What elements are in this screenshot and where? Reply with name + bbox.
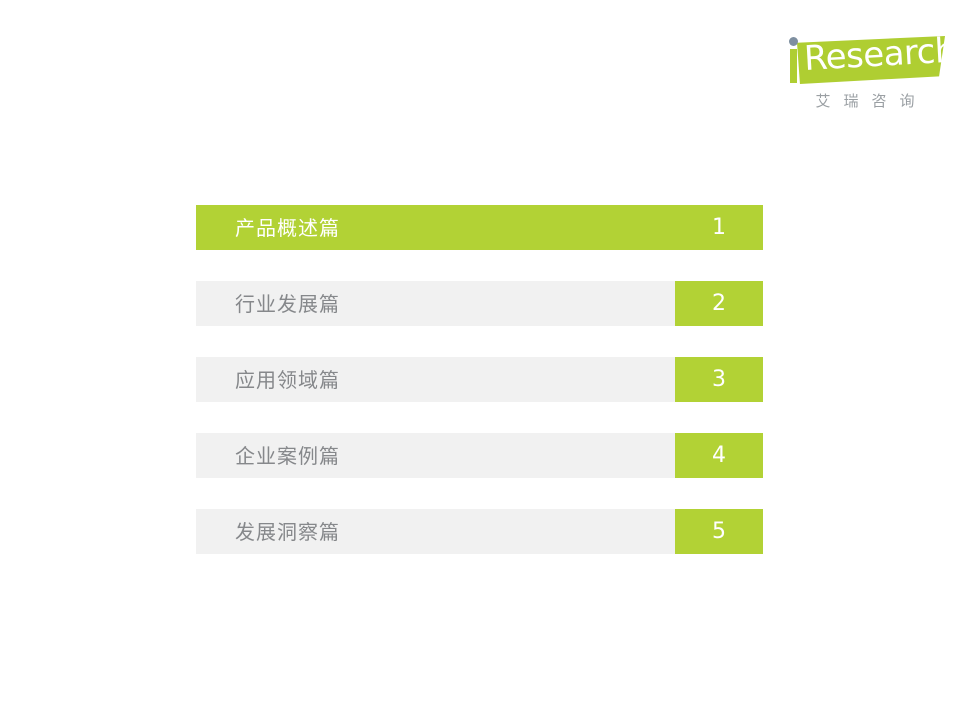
logo-i-dot-icon [789,37,798,46]
toc-item-label: 应用领域篇 [235,367,340,393]
toc-item-number: 2 [675,281,763,326]
toc-item-number: 3 [675,357,763,402]
toc-item-number: 1 [675,205,763,250]
toc-item-label: 产品概述篇 [235,215,340,241]
toc-item-number: 4 [675,433,763,478]
toc-item-2[interactable]: 行业发展篇 2 [196,281,763,326]
toc-item-5[interactable]: 发展洞察篇 5 [196,509,763,554]
toc-item-label: 行业发展篇 [235,291,340,317]
toc-item-3[interactable]: 应用领域篇 3 [196,357,763,402]
toc-item-label: 发展洞察篇 [235,519,340,545]
table-of-contents: 产品概述篇 1 行业发展篇 2 应用领域篇 3 企业案例篇 4 发展洞察篇 5 [196,205,763,554]
toc-item-4[interactable]: 企业案例篇 4 [196,433,763,478]
logo-i-stem-icon [790,49,797,83]
logo-wordmark: Research [803,31,957,79]
toc-item-1[interactable]: 产品概述篇 1 [196,205,763,250]
logo-mark: Research [781,30,947,90]
iresearch-logo: Research 艾瑞咨询 [781,30,947,122]
toc-item-number: 5 [675,509,763,554]
logo-subtitle: 艾瑞咨询 [785,92,945,112]
toc-item-label: 企业案例篇 [235,443,340,469]
